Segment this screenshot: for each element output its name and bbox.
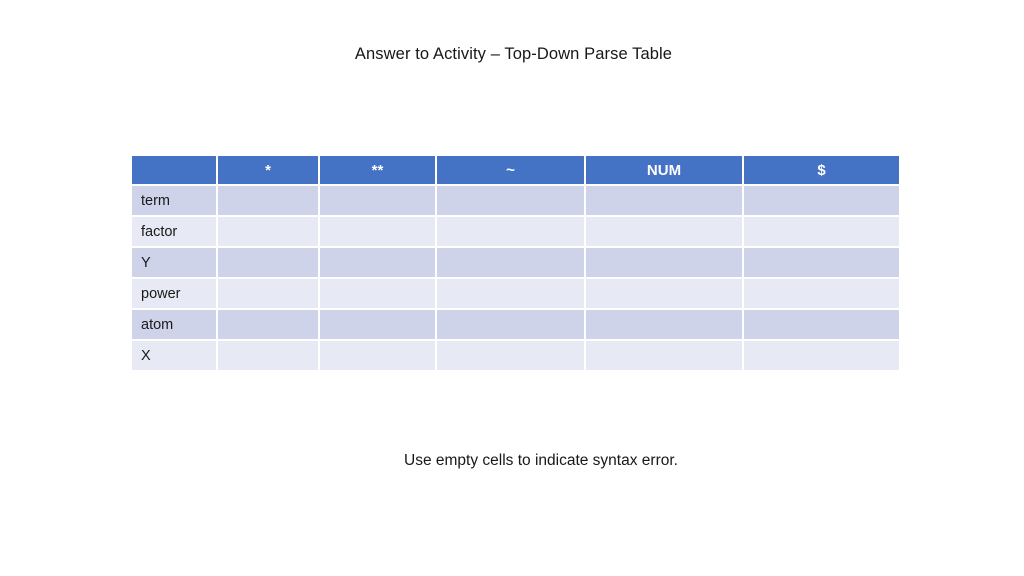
cell-y-tilde[interactable] [437, 248, 584, 277]
cell-factor-star[interactable] [218, 217, 318, 246]
cell-y-star[interactable] [218, 248, 318, 277]
cell-term-num[interactable] [586, 186, 742, 215]
table-row: atom [132, 310, 899, 339]
cell-factor-tilde[interactable] [437, 217, 584, 246]
table-row: factor [132, 217, 899, 246]
cell-x-double-star[interactable] [320, 341, 435, 370]
column-header-tilde: ~ [437, 156, 584, 184]
table-row: Y [132, 248, 899, 277]
cell-y-double-star[interactable] [320, 248, 435, 277]
table-row: term [132, 186, 899, 215]
table-body: term factor Y [132, 186, 899, 370]
row-label-x: X [132, 341, 216, 370]
cell-term-tilde[interactable] [437, 186, 584, 215]
table-header-row: * ** ~ NUM $ [132, 156, 899, 184]
column-header-num: NUM [586, 156, 742, 184]
cell-factor-double-star[interactable] [320, 217, 435, 246]
row-label-atom: atom [132, 310, 216, 339]
slide-canvas: Answer to Activity – Top-Down Parse Tabl… [0, 0, 1024, 576]
cell-x-num[interactable] [586, 341, 742, 370]
row-label-power: power [132, 279, 216, 308]
column-header-star: * [218, 156, 318, 184]
top-down-parse-table: * ** ~ NUM $ term factor [130, 154, 901, 372]
table-row: power [132, 279, 899, 308]
cell-power-num[interactable] [586, 279, 742, 308]
table-row: X [132, 341, 899, 370]
column-header-dollar: $ [744, 156, 899, 184]
cell-power-star[interactable] [218, 279, 318, 308]
cell-y-num[interactable] [586, 248, 742, 277]
cell-atom-num[interactable] [586, 310, 742, 339]
cell-factor-num[interactable] [586, 217, 742, 246]
table-corner-cell [132, 156, 216, 184]
cell-atom-tilde[interactable] [437, 310, 584, 339]
cell-power-tilde[interactable] [437, 279, 584, 308]
cell-x-star[interactable] [218, 341, 318, 370]
page-title: Answer to Activity – Top-Down Parse Tabl… [0, 45, 1024, 64]
cell-atom-star[interactable] [218, 310, 318, 339]
cell-x-tilde[interactable] [437, 341, 584, 370]
table-header: * ** ~ NUM $ [132, 156, 899, 184]
instruction-caption: Use empty cells to indicate syntax error… [0, 452, 1024, 470]
cell-power-double-star[interactable] [320, 279, 435, 308]
row-label-factor: factor [132, 217, 216, 246]
cell-power-dollar[interactable] [744, 279, 899, 308]
column-header-double-star: ** [320, 156, 435, 184]
cell-y-dollar[interactable] [744, 248, 899, 277]
cell-term-star[interactable] [218, 186, 318, 215]
row-label-term: term [132, 186, 216, 215]
row-label-y: Y [132, 248, 216, 277]
cell-atom-dollar[interactable] [744, 310, 899, 339]
cell-term-double-star[interactable] [320, 186, 435, 215]
cell-factor-dollar[interactable] [744, 217, 899, 246]
cell-x-dollar[interactable] [744, 341, 899, 370]
cell-term-dollar[interactable] [744, 186, 899, 215]
cell-atom-double-star[interactable] [320, 310, 435, 339]
